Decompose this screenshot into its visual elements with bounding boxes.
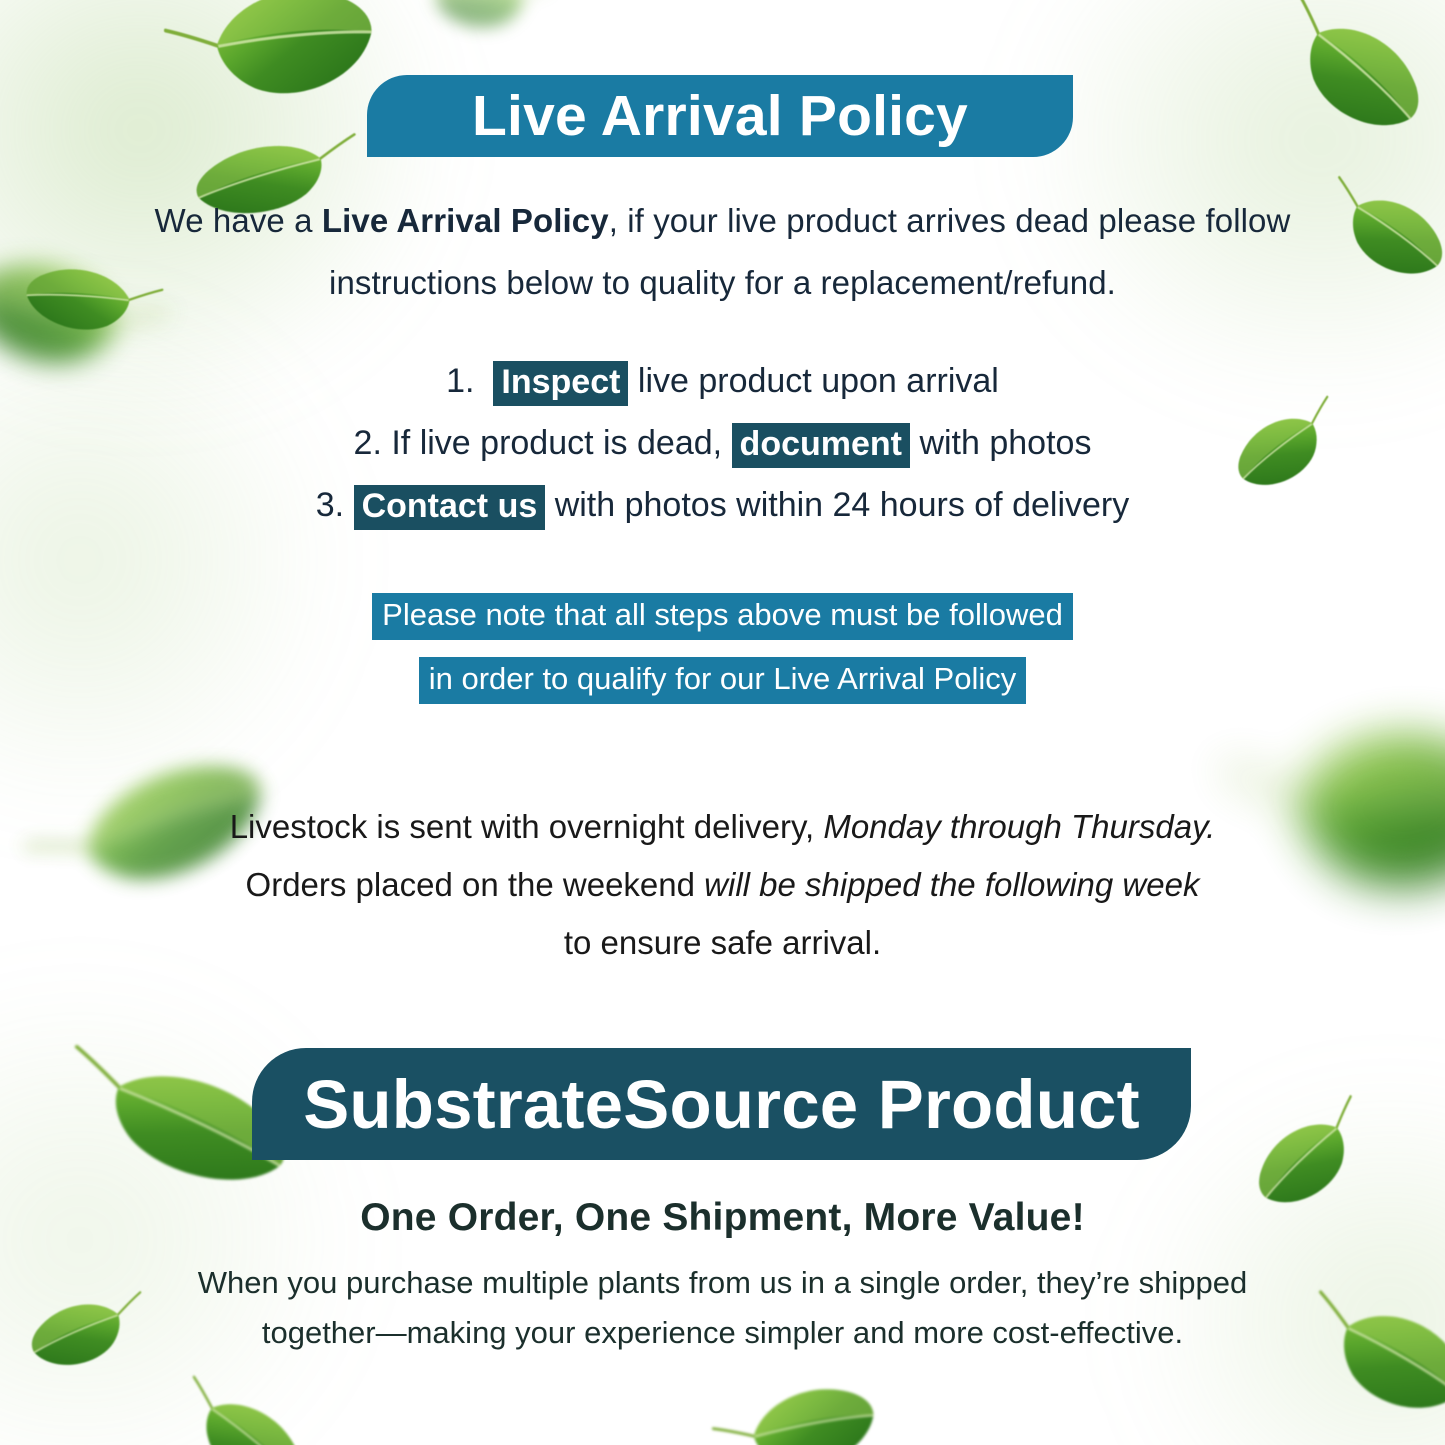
- live-arrival-policy-banner-label: Live Arrival Policy: [472, 83, 968, 149]
- shipping-line-3: to ensure safe arrival.: [170, 914, 1275, 972]
- step-2-highlight: document: [732, 423, 910, 468]
- policy-note-line-1: Please note that all steps above must be…: [372, 593, 1073, 640]
- live-arrival-policy-banner: Live Arrival Policy: [367, 75, 1073, 157]
- shipping-schedule-paragraph: Livestock is sent with overnight deliver…: [170, 798, 1275, 972]
- intro-line-1: We have a Live Arrival Policy, if your l…: [150, 190, 1295, 252]
- step-3-number: 3.: [316, 486, 344, 524]
- step-1-highlight: Inspect: [493, 361, 628, 406]
- step-2-before: If live product is dead,: [382, 424, 732, 462]
- shipping-line-2-plain: Orders placed on the weekend: [246, 866, 705, 903]
- step-1-number: 1.: [446, 362, 474, 400]
- intro-line-2: instructions below to quality for a repl…: [150, 252, 1295, 314]
- step-1-after: live product upon arrival: [628, 362, 998, 400]
- step-3-after: with photos within 24 hours of delivery: [545, 486, 1129, 524]
- policy-note: Please note that all steps above must be…: [150, 583, 1295, 711]
- intro-paragraph: We have a Live Arrival Policy, if your l…: [150, 190, 1295, 314]
- shipping-line-1-plain: Livestock is sent with overnight deliver…: [230, 808, 824, 845]
- live-arrival-policy-page: Live Arrival Policy We have a Live Arriv…: [0, 0, 1445, 1445]
- steps-list: 1. Inspect live product upon arrival 2. …: [150, 350, 1295, 536]
- shipping-line-2-italic: will be shipped the following week: [704, 866, 1199, 903]
- substratesource-product-banner-label: SubstrateSource Product: [303, 1065, 1140, 1144]
- substratesource-product-banner: SubstrateSource Product: [252, 1048, 1191, 1160]
- step-3-highlight: Contact us: [354, 485, 546, 530]
- policy-note-line-2: in order to qualify for our Live Arrival…: [419, 657, 1027, 704]
- shipping-line-2: Orders placed on the weekend will be shi…: [170, 856, 1275, 914]
- shipping-line-1: Livestock is sent with overnight deliver…: [170, 798, 1275, 856]
- intro-lead: We have a: [155, 202, 322, 239]
- closing-line-1: When you purchase multiple plants from u…: [150, 1258, 1295, 1308]
- step-item-1: 1. Inspect live product upon arrival: [150, 350, 1295, 412]
- step-2-after: with photos: [910, 424, 1091, 462]
- step-2-number: 2.: [354, 424, 382, 462]
- shipping-line-1-italic: Monday through Thursday.: [823, 808, 1215, 845]
- intro-tail: , if your live product arrives dead plea…: [609, 202, 1291, 239]
- step-item-3: 3. Contact us with photos within 24 hour…: [150, 474, 1295, 536]
- product-closing-paragraph: When you purchase multiple plants from u…: [150, 1258, 1295, 1358]
- product-subheading: One Order, One Shipment, More Value!: [150, 1196, 1295, 1240]
- intro-bold-policy: Live Arrival Policy: [322, 202, 609, 239]
- step-item-2: 2. If live product is dead, document wit…: [150, 412, 1295, 474]
- policy-note-row-1: Please note that all steps above must be…: [150, 583, 1295, 647]
- closing-line-2: together—making your experience simpler …: [150, 1308, 1295, 1358]
- policy-note-row-2: in order to qualify for our Live Arrival…: [150, 647, 1295, 711]
- step-3-before: [344, 486, 353, 524]
